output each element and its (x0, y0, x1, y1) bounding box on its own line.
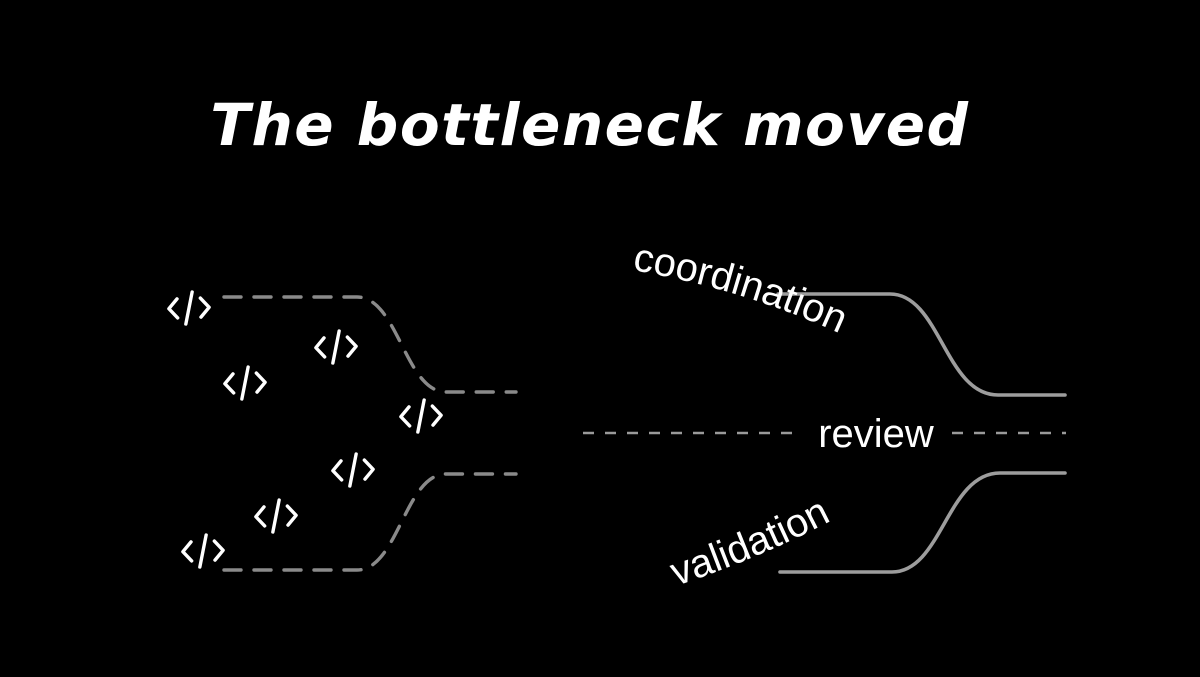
diagram-scene: The bottleneck moved coordination (0, 0, 1200, 677)
page-title: The bottleneck moved (210, 91, 969, 159)
review-label: review (818, 412, 934, 456)
slide-canvas: The bottleneck moved coordination (0, 0, 1200, 677)
